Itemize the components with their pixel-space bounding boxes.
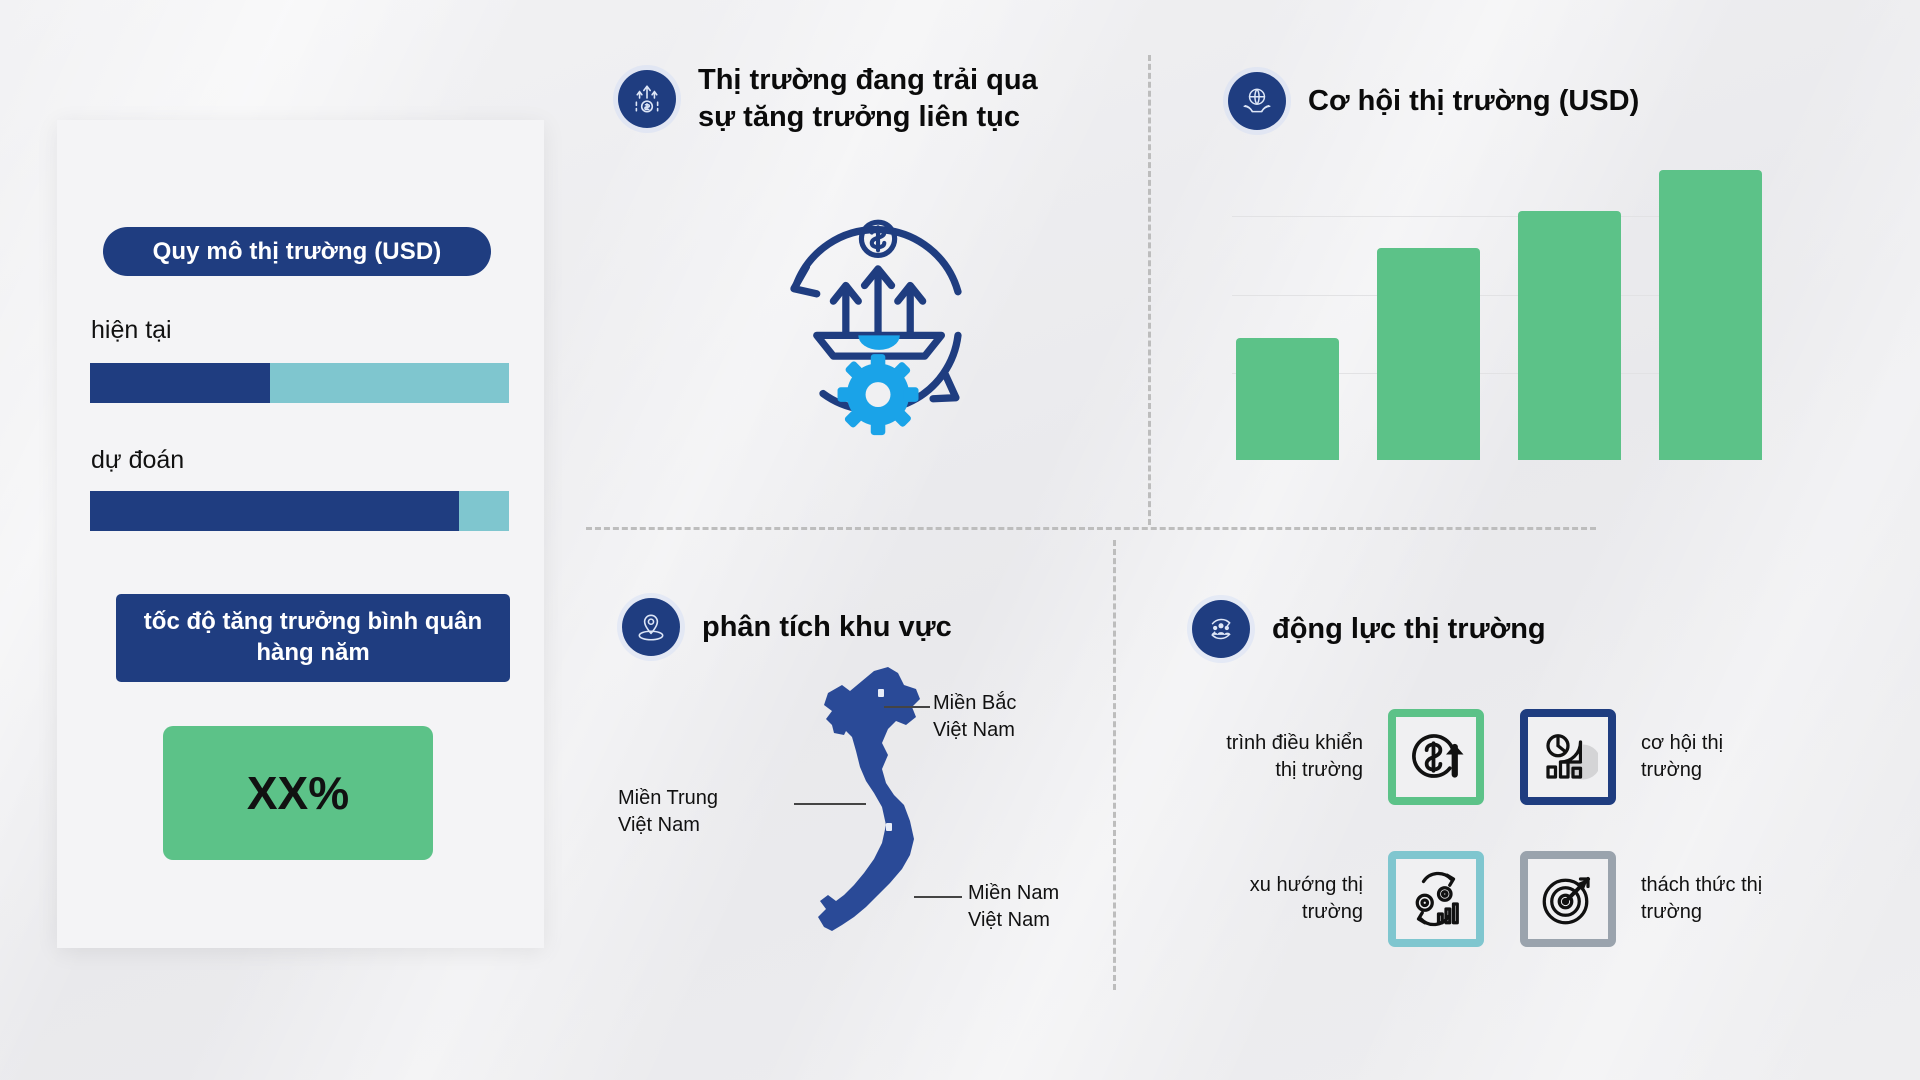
dynamics-section-title: động lực thị trường xyxy=(1272,611,1546,648)
target-dartboard-icon xyxy=(1520,851,1616,947)
people-cycle-icon xyxy=(1192,600,1250,658)
dynamics-label-challenges-line2: trường xyxy=(1641,899,1836,926)
map-label-central: Miền Trung Việt Nam xyxy=(618,785,718,839)
current-bar-label: hiện tại xyxy=(91,316,172,345)
dynamics-label-trends: xu hướng thị trường xyxy=(1168,872,1363,926)
pie-chart-clock-icon xyxy=(1520,709,1616,805)
chart-bar xyxy=(1377,248,1480,460)
vertical-divider-top xyxy=(1148,55,1151,525)
opportunity-bar-chart xyxy=(1232,170,1762,460)
map-label-north: Miền Bắc Việt Nam xyxy=(933,690,1016,744)
market-dynamics-grid: trình điều khiển thị trường cơ hội xyxy=(1168,698,1838,958)
infographic-stage: Quy mô thị trường (USD) hiện tại dự đoán… xyxy=(0,0,1920,1080)
dynamics-label-challenges-line1: thách thức thị xyxy=(1641,872,1836,899)
opportunity-section-title: Cơ hội thị trường (USD) xyxy=(1308,83,1639,120)
market-size-title: Quy mô thị trường (USD) xyxy=(103,227,491,276)
dynamics-label-opportunities-line2: trường xyxy=(1641,757,1836,784)
dynamics-section-header: động lực thị trường xyxy=(1192,600,1546,658)
growth-section-title: Thị trường đang trải qua sự tăng trưởng … xyxy=(698,62,1048,135)
dynamics-label-trends-line2: trường xyxy=(1168,899,1363,926)
dynamics-label-drivers-line2: thị trường xyxy=(1168,757,1363,784)
globe-in-hands-icon xyxy=(1228,72,1286,130)
dynamics-label-drivers: trình điều khiển thị trường xyxy=(1168,730,1363,784)
map-label-central-line2: Việt Nam xyxy=(618,812,718,839)
dynamics-label-opportunities: cơ hội thị trường xyxy=(1641,730,1836,784)
chart-bar xyxy=(1659,170,1762,460)
leader-line-south xyxy=(914,896,962,898)
dollar-circle-up-arrow-icon xyxy=(1388,709,1484,805)
map-label-north-line1: Miền Bắc xyxy=(933,690,1016,717)
chart-bar-group xyxy=(1232,170,1762,460)
leader-line-north xyxy=(884,706,930,708)
cagr-value: XX% xyxy=(163,726,433,860)
forecast-bar-fill xyxy=(90,491,459,531)
map-label-south: Miền Nam Việt Nam xyxy=(968,880,1059,934)
vertical-divider-bottom xyxy=(1113,540,1116,990)
growth-section-header: Thị trường đang trải qua sự tăng trưởng … xyxy=(618,62,1048,135)
map-label-north-line2: Việt Nam xyxy=(933,717,1016,744)
forecast-bar-label: dự đoán xyxy=(91,446,184,475)
gears-analytics-icon xyxy=(1388,851,1484,947)
forecast-bar-track xyxy=(90,491,509,531)
leader-line-central xyxy=(794,803,866,805)
map-label-south-line1: Miền Nam xyxy=(968,880,1059,907)
map-label-central-line1: Miền Trung xyxy=(618,785,718,812)
regional-section-header: phân tích khu vực xyxy=(622,598,952,656)
cagr-label: tốc độ tăng trưởng bình quân hàng năm xyxy=(116,594,510,682)
current-bar-track xyxy=(90,363,509,403)
dynamics-label-challenges: thách thức thị trường xyxy=(1641,872,1836,926)
horizontal-divider xyxy=(586,527,1596,530)
map-pin-icon xyxy=(622,598,680,656)
opportunity-section-header: Cơ hội thị trường (USD) xyxy=(1228,72,1639,130)
regional-section-title: phân tích khu vực xyxy=(702,609,952,646)
money-growth-arrows-icon xyxy=(618,70,676,128)
chart-bar xyxy=(1518,211,1621,460)
growth-illustration xyxy=(742,190,1012,452)
dynamics-label-drivers-line1: trình điều khiển xyxy=(1168,730,1363,757)
dynamics-label-opportunities-line1: cơ hội thị xyxy=(1641,730,1836,757)
current-bar-fill xyxy=(90,363,270,403)
dynamics-label-trends-line1: xu hướng thị xyxy=(1168,872,1363,899)
map-label-south-line2: Việt Nam xyxy=(968,907,1059,934)
chart-bar xyxy=(1236,338,1339,460)
